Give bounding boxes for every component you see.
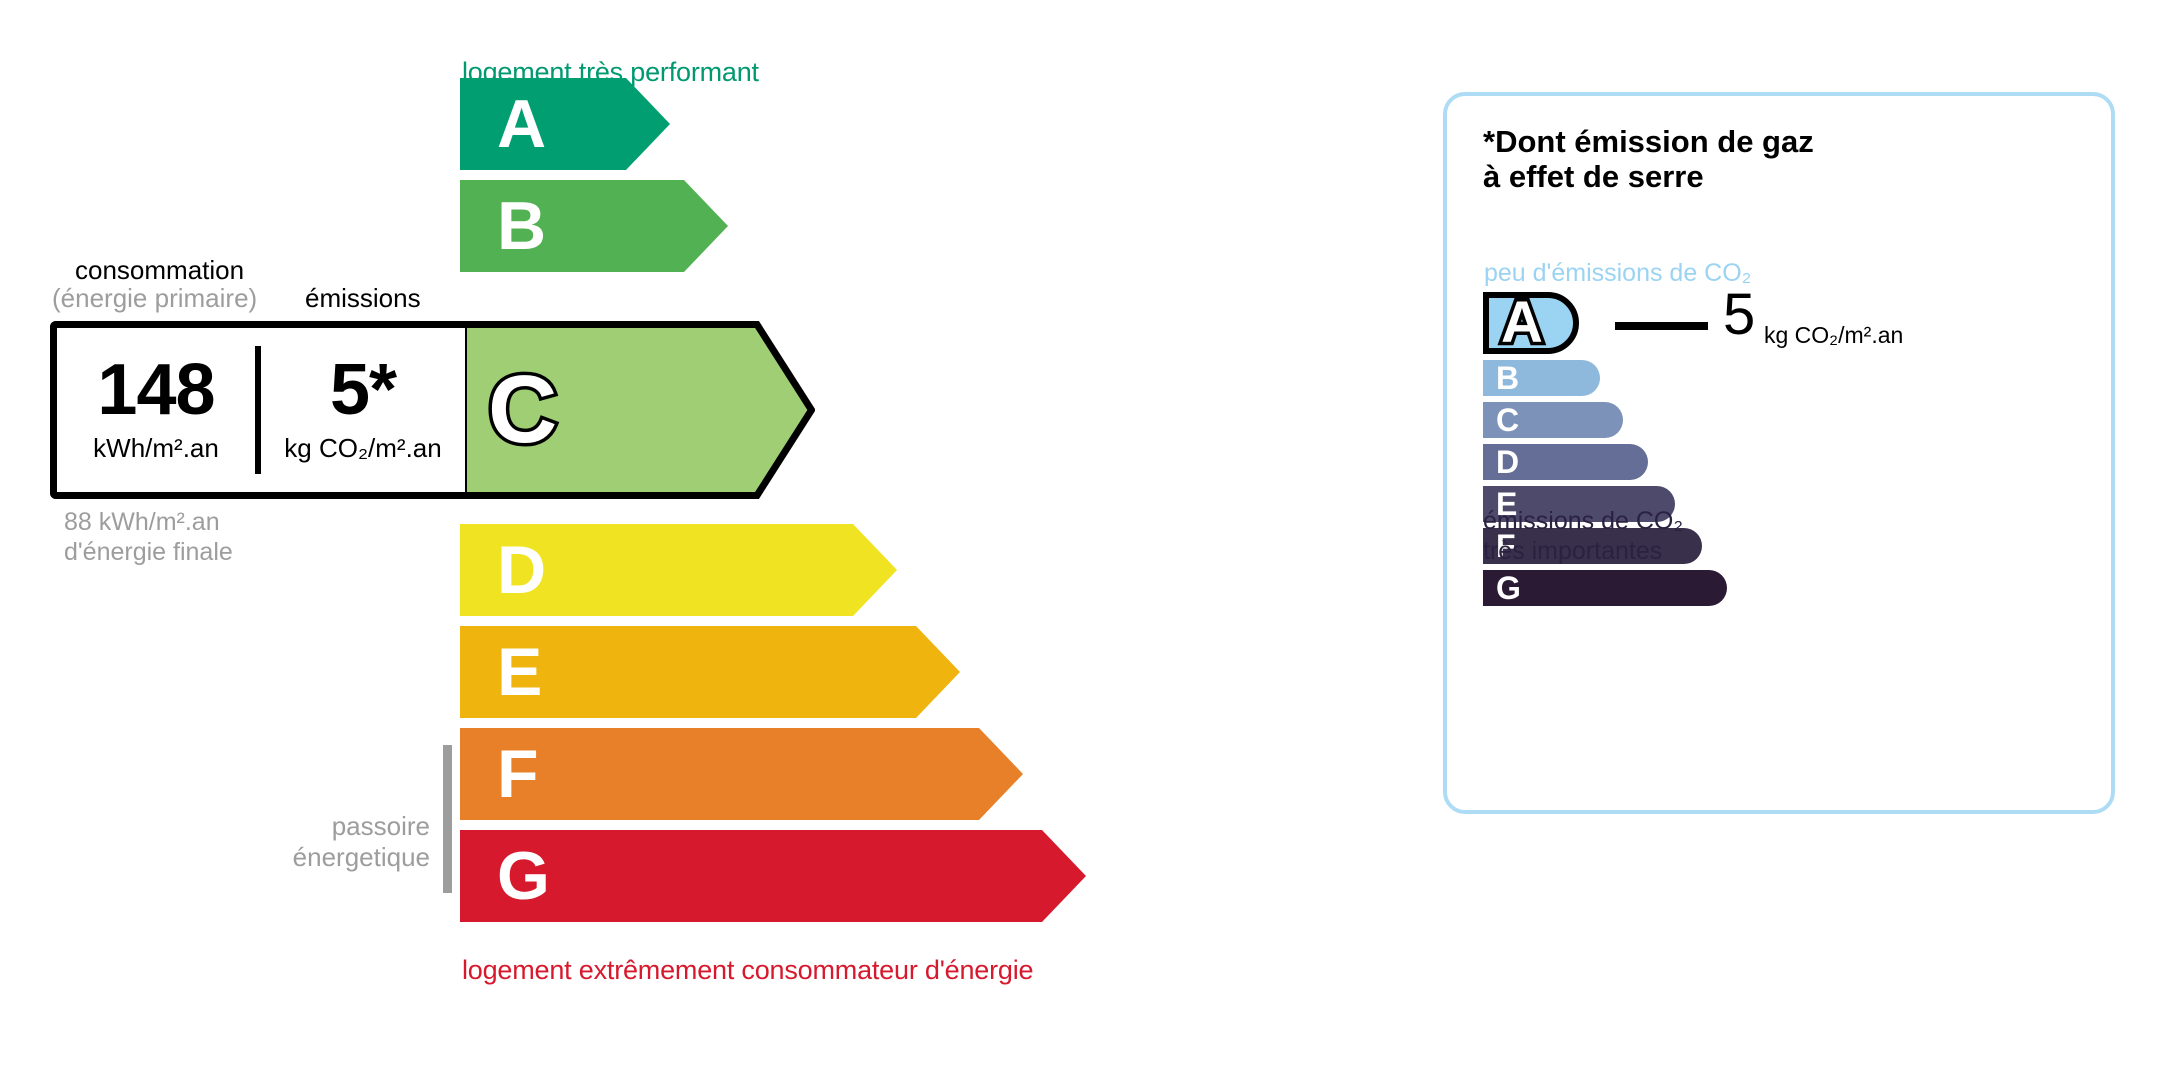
primary-energy-value: 148 <box>97 356 214 424</box>
passoire-label-line1: passoire <box>190 811 430 842</box>
ghg-worst-line1: émissions de CO₂ <box>1483 507 1683 537</box>
energy-class-chart: logement très performant ABCDEFG logemen… <box>0 0 1400 1079</box>
energy-arrow-letter-d: D <box>497 536 546 604</box>
ghg-title-line1: *Dont émission de gaz <box>1483 124 1814 159</box>
ghg-worst-line2: très importantes <box>1483 537 1683 567</box>
ghg-panel-title: *Dont émission de gaz à effet de serre <box>1483 124 1814 194</box>
co2-emission-cell: 5* kg CO₂/m².an <box>261 328 465 492</box>
ghg-value: 5 <box>1723 286 1755 344</box>
passoire-label-line2: énergetique <box>190 842 430 873</box>
energy-arrow-row-a: A <box>460 78 670 170</box>
final-energy-note-line1: 88 kWh/m².an <box>64 508 233 538</box>
energy-arrow-row-b: B <box>460 180 728 272</box>
energy-arrow-letter-c: C <box>488 362 557 458</box>
ghg-value-leader-line <box>1615 322 1708 330</box>
energy-arrow-letter-a: A <box>497 90 546 158</box>
ghg-bar-letter-a: A <box>1501 294 1543 352</box>
passoire-energetique-label: passoire énergetique <box>190 811 430 873</box>
primary-energy-cell: 148 kWh/m².an <box>57 328 255 492</box>
consumption-header: consommation <box>75 255 244 286</box>
ghg-value-unit: kg CO₂/m².an <box>1764 324 1903 347</box>
energy-arrow-shape-a <box>460 78 670 170</box>
energy-arrow-row-d: D <box>460 524 897 616</box>
energy-arrow-letter-e: E <box>497 638 542 706</box>
energy-arrow-letter-b: B <box>497 192 546 260</box>
energy-arrow-row-f: F <box>460 728 1023 820</box>
emissions-header: émissions <box>305 283 421 314</box>
value-box: 148 kWh/m².an 5* kg CO₂/m².an <box>50 321 465 499</box>
consumption-subheader: (énergie primaire) <box>52 283 257 314</box>
worst-performance-caption: logement extrêmement consommateur d'éner… <box>462 955 1033 986</box>
ghg-bar-letter-c: C <box>1496 404 1519 436</box>
energy-arrow-letter-f: F <box>497 740 539 808</box>
energy-arrow-shape-f <box>460 728 1023 820</box>
final-energy-note: 88 kWh/m².an d'énergie finale <box>64 508 233 567</box>
ghg-bar-letter-g: G <box>1496 572 1521 604</box>
ghg-bar-letter-d: D <box>1496 446 1519 478</box>
passoire-energetique-bracket <box>443 745 452 893</box>
ghg-worst-caption: émissions de CO₂ très importantes <box>1483 507 1683 566</box>
ghg-bar-letter-b: B <box>1496 362 1519 394</box>
dpe-diagram: logement très performant ABCDEFG logemen… <box>0 0 2169 1079</box>
final-energy-note-line2: d'énergie finale <box>64 538 233 568</box>
co2-emission-value: 5* <box>330 356 396 424</box>
co2-emission-unit: kg CO₂/m².an <box>284 433 441 464</box>
ghg-best-caption: peu d'émissions de CO₂ <box>1484 259 1751 288</box>
energy-arrow-shape-g <box>460 830 1086 922</box>
energy-arrow-row-e: E <box>460 626 960 718</box>
ghg-title-line2: à effet de serre <box>1483 159 1814 194</box>
primary-energy-unit: kWh/m².an <box>93 433 219 464</box>
energy-arrow-letter-g: G <box>497 842 550 910</box>
energy-arrow-row-c: C <box>460 321 815 499</box>
energy-arrow-row-g: G <box>460 830 1086 922</box>
ghg-emission-panel: *Dont émission de gaz à effet de serre p… <box>1443 92 2115 814</box>
